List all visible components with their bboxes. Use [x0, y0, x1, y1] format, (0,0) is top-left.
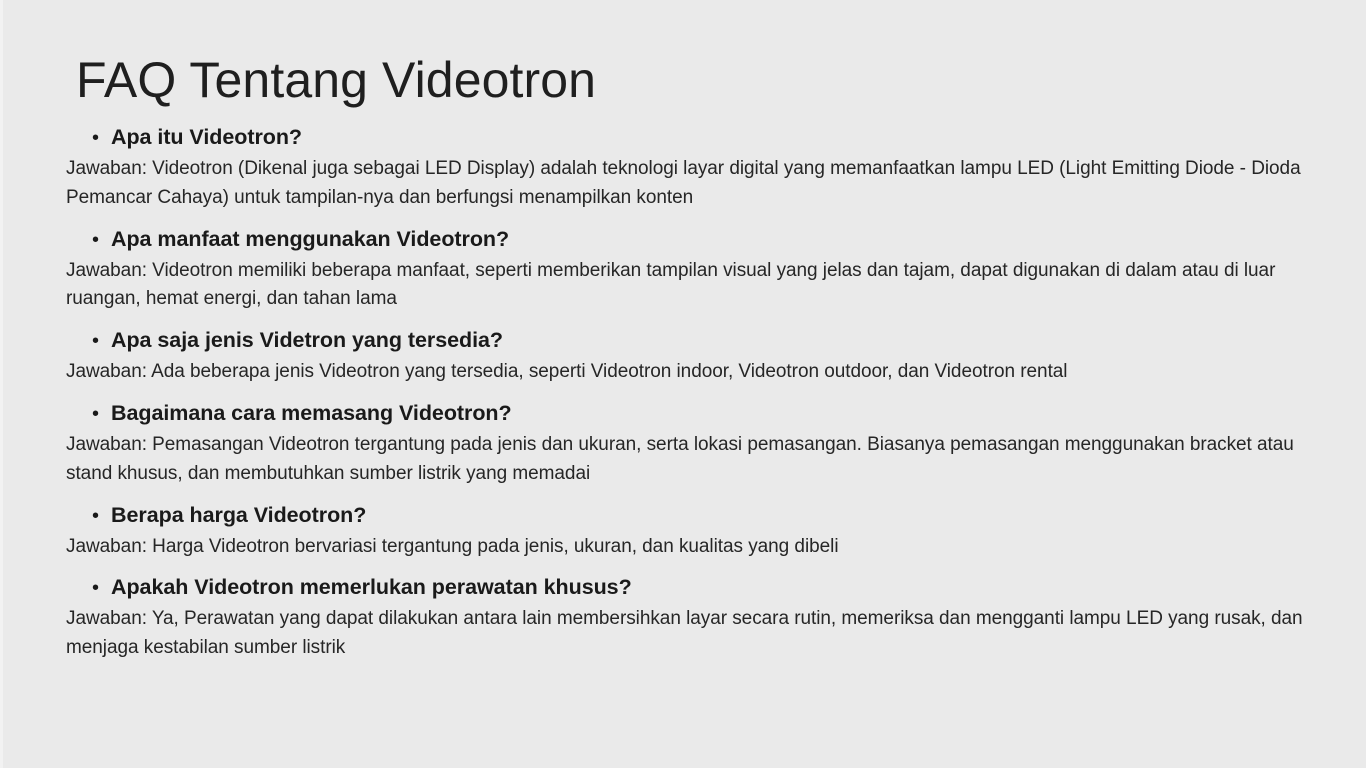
faq-list: •Apa itu Videotron?Jawaban: Videotron (D… — [66, 122, 1342, 663]
faq-answer: Jawaban: Videotron memiliki beberapa man… — [66, 257, 1342, 315]
bullet-icon: • — [92, 573, 111, 603]
faq-question-row: •Apa saja jenis Videtron yang tersedia? — [66, 325, 1342, 356]
faq-question: Apakah Videotron memerlukan perawatan kh… — [111, 572, 632, 602]
faq-question: Apa itu Videotron? — [111, 122, 302, 152]
page-title: FAQ Tentang Videotron — [76, 55, 596, 105]
faq-item: •Berapa harga Videotron?Jawaban: Harga V… — [66, 500, 1342, 562]
faq-answer: Jawaban: Pemasangan Videotron tergantung… — [66, 431, 1342, 489]
faq-question-row: •Apa manfaat menggunakan Videotron? — [66, 224, 1342, 255]
faq-question: Apa manfaat menggunakan Videotron? — [111, 224, 509, 254]
faq-item: •Apa saja jenis Videtron yang tersedia?J… — [66, 325, 1342, 387]
faq-question-row: •Apa itu Videotron? — [66, 122, 1342, 153]
faq-item: •Apakah Videotron memerlukan perawatan k… — [66, 572, 1342, 663]
faq-question: Bagaimana cara memasang Videotron? — [111, 398, 512, 428]
faq-answer: Jawaban: Videotron (Dikenal juga sebagai… — [66, 155, 1342, 213]
faq-question: Berapa harga Videotron? — [111, 500, 366, 530]
faq-question-row: •Apakah Videotron memerlukan perawatan k… — [66, 572, 1342, 603]
bullet-icon: • — [92, 326, 111, 356]
faq-question-row: •Berapa harga Videotron? — [66, 500, 1342, 531]
faq-answer: Jawaban: Ada beberapa jenis Videotron ya… — [66, 358, 1342, 387]
faq-answer: Jawaban: Ya, Perawatan yang dapat dilaku… — [66, 605, 1342, 663]
faq-item: •Apa manfaat menggunakan Videotron?Jawab… — [66, 224, 1342, 315]
faq-question-row: •Bagaimana cara memasang Videotron? — [66, 398, 1342, 429]
slide-left-edge-strip — [0, 0, 3, 768]
bullet-icon: • — [92, 399, 111, 429]
faq-item: •Bagaimana cara memasang Videotron?Jawab… — [66, 398, 1342, 489]
presentation-slide: FAQ Tentang Videotron •Apa itu Videotron… — [0, 0, 1366, 768]
bullet-icon: • — [92, 501, 111, 531]
slide-content-area: FAQ Tentang Videotron •Apa itu Videotron… — [66, 0, 1342, 768]
bullet-icon: • — [92, 225, 111, 255]
bullet-icon: • — [92, 123, 111, 153]
faq-question: Apa saja jenis Videtron yang tersedia? — [111, 325, 503, 355]
faq-item: •Apa itu Videotron?Jawaban: Videotron (D… — [66, 122, 1342, 213]
faq-answer: Jawaban: Harga Videotron bervariasi terg… — [66, 533, 1342, 562]
